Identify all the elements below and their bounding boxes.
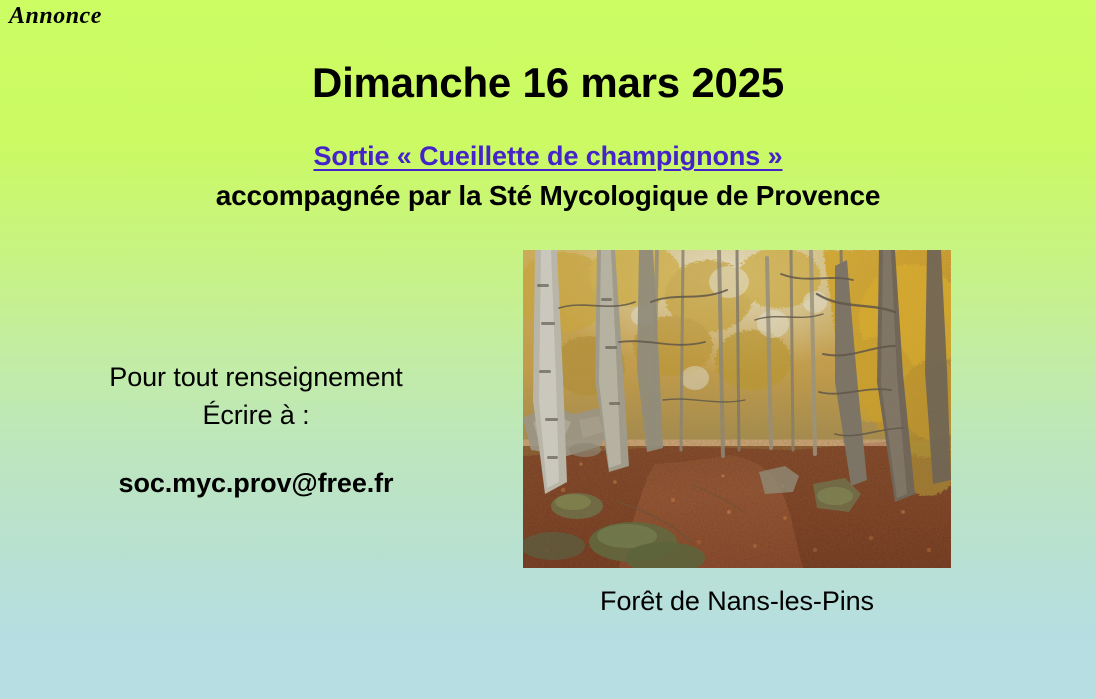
announcement-poster: Annonce Dimanche 16 mars 2025 Sortie « C…	[0, 0, 1096, 699]
page-title: Dimanche 16 mars 2025	[0, 56, 1096, 110]
outing-link[interactable]: Sortie « Cueillette de champignons »	[313, 138, 782, 174]
photo-caption: Forêt de Nans-les-Pins	[523, 583, 951, 619]
contact-line-1: Pour tout renseignement	[28, 358, 484, 396]
forest-photo	[523, 250, 951, 568]
subtitle-link-container: Sortie « Cueillette de champignons »	[0, 138, 1096, 174]
kicker-label: Annonce	[9, 2, 102, 30]
contact-email[interactable]: soc.myc.prov@free.fr	[28, 464, 484, 502]
forest-photo-image	[523, 250, 951, 568]
subtitle-secondary: accompagnée par la Sté Mycologique de Pr…	[0, 178, 1096, 214]
contact-block: Pour tout renseignement Écrire à : soc.m…	[28, 358, 484, 502]
contact-line-2: Écrire à :	[28, 396, 484, 434]
